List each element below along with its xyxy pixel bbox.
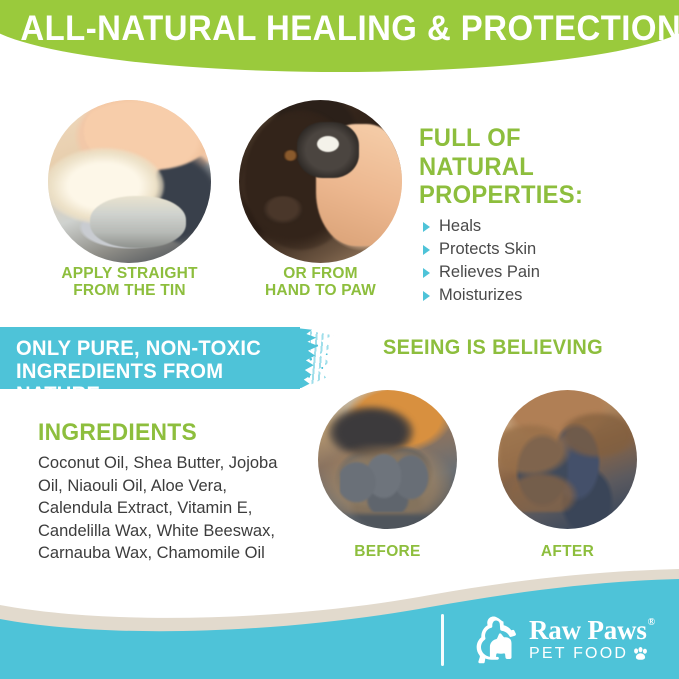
ingredients-heading: INGREDIENTS [38,420,271,446]
property-label: Moisturizes [439,286,522,305]
purity-banner-line-2: INGREDIENTS FROM NATURE [16,360,294,406]
caption-hand-to-paw: OR FROM HAND TO PAW [229,265,412,299]
purity-banner: ONLY PURE, NON-TOXIC INGREDIENTS FROM NA… [0,327,345,389]
properties-heading-line-1: FULL OF [419,125,657,152]
natural-properties-panel: FULL OF NATURAL PROPERTIES: Heals Protec… [419,125,669,307]
properties-list: Heals Protects Skin Relieves Pain Moistu… [419,215,669,307]
photo-tin-balm-can [90,196,186,248]
label-before: BEFORE [318,543,457,561]
photo-apply-from-tin [48,100,211,263]
purity-banner-line-1: ONLY PURE, NON-TOXIC [16,337,294,360]
dog-and-cat-silhouette-icon [466,615,520,665]
photo-paw-dog-eye [283,150,298,161]
brand-logo: Raw Paws ® PET FOOD [466,611,666,669]
photo-before-paw-pads [340,450,444,512]
registered-trademark-icon: ® [648,617,655,629]
list-item: Relieves Pain [419,261,669,284]
list-item: Protects Skin [419,238,669,261]
photo-after-paw-pads [522,438,618,512]
ingredients-panel: INGREDIENTS Coconut Oil, Shea Butter, Jo… [38,420,283,565]
logo-wordmark: Raw Paws ® PET FOOD [529,617,655,663]
photo-hand-to-paw [239,100,402,263]
caption-line-1: APPLY STRAIGHT [38,265,221,282]
label-after: AFTER [498,543,637,561]
page-title: ALL-NATURAL HEALING & PROTECTION [20,9,658,49]
property-label: Relieves Pain [439,263,540,282]
photo-paw-after [498,390,637,529]
logo-brand-name: Raw Paws [529,617,647,644]
infographic-canvas: ALL-NATURAL HEALING & PROTECTION APPLY S… [0,0,679,679]
logo-tagline-line: PET FOOD [529,645,655,663]
photo-paw-dog-nose [263,196,303,224]
list-item: Heals [419,215,669,238]
triangle-bullet-icon [423,222,430,232]
photo-paw-balm-dab [317,136,339,152]
photo-paw-before [318,390,457,529]
properties-heading-line-2: NATURAL PROPERTIES: [419,153,657,209]
property-label: Protects Skin [439,240,536,259]
triangle-bullet-icon [423,268,430,278]
caption-line-1: OR FROM [229,265,412,282]
logo-tagline: PET FOOD [529,645,628,663]
triangle-bullet-icon [423,291,430,301]
logo-divider [441,614,444,666]
list-item: Moisturizes [419,284,669,307]
purity-banner-paint-splatter [302,327,346,389]
paw-print-icon [633,647,648,661]
caption-line-2: FROM THE TIN [38,282,221,299]
logo-brand-line: Raw Paws ® [529,617,655,644]
property-label: Heals [439,217,481,236]
header-banner: ALL-NATURAL HEALING & PROTECTION [0,0,679,72]
caption-line-2: HAND TO PAW [229,282,412,299]
comparison-heading: SEEING IS BELIEVING [383,336,649,360]
purity-banner-text: ONLY PURE, NON-TOXIC INGREDIENTS FROM NA… [16,337,294,406]
caption-apply-from-tin: APPLY STRAIGHT FROM THE TIN [38,265,221,299]
triangle-bullet-icon [423,245,430,255]
ingredients-list-text: Coconut Oil, Shea Butter, Jojoba Oil, Ni… [38,452,283,565]
